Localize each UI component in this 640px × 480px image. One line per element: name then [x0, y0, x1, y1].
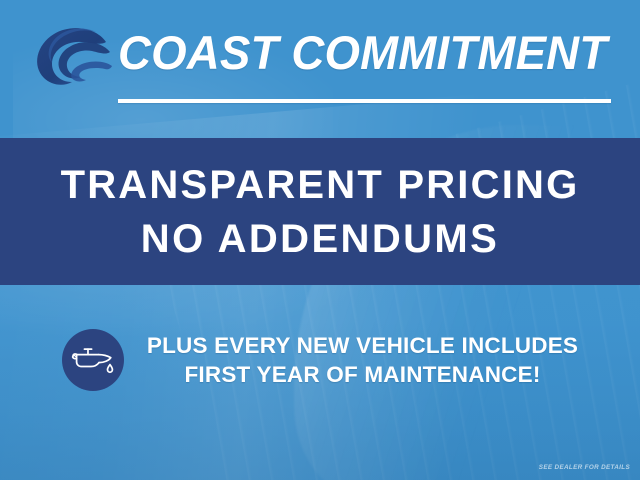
disclaimer-text: SEE DEALER FOR DETAILS	[539, 464, 630, 471]
promo-row: PLUS EVERY NEW VEHICLE INCLUDES FIRST YE…	[0, 318, 640, 402]
headline-band: TRANSPARENT PRICING NO ADDENDUMS	[0, 138, 640, 285]
brand-title: COAST COMMITMENT	[118, 24, 603, 84]
banner-header: COAST COMMITMENT	[0, 0, 640, 138]
promo-line-1: PLUS EVERY NEW VEHICLE INCLUDES	[147, 331, 578, 360]
promo-text-group: PLUS EVERY NEW VEHICLE INCLUDES FIRST YE…	[147, 331, 578, 389]
headline-line-2: NO ADDENDUMS	[141, 212, 499, 266]
coast-wave-swirl-icon	[26, 22, 120, 94]
headline-line-1: TRANSPARENT PRICING	[61, 158, 580, 212]
coast-commitment-banner: COAST COMMITMENT TRANSPARENT PRICING NO …	[0, 0, 640, 480]
promo-line-2: FIRST YEAR OF MAINTENANCE!	[147, 360, 578, 389]
header-divider	[118, 99, 611, 103]
oil-can-drip-icon	[62, 329, 124, 391]
